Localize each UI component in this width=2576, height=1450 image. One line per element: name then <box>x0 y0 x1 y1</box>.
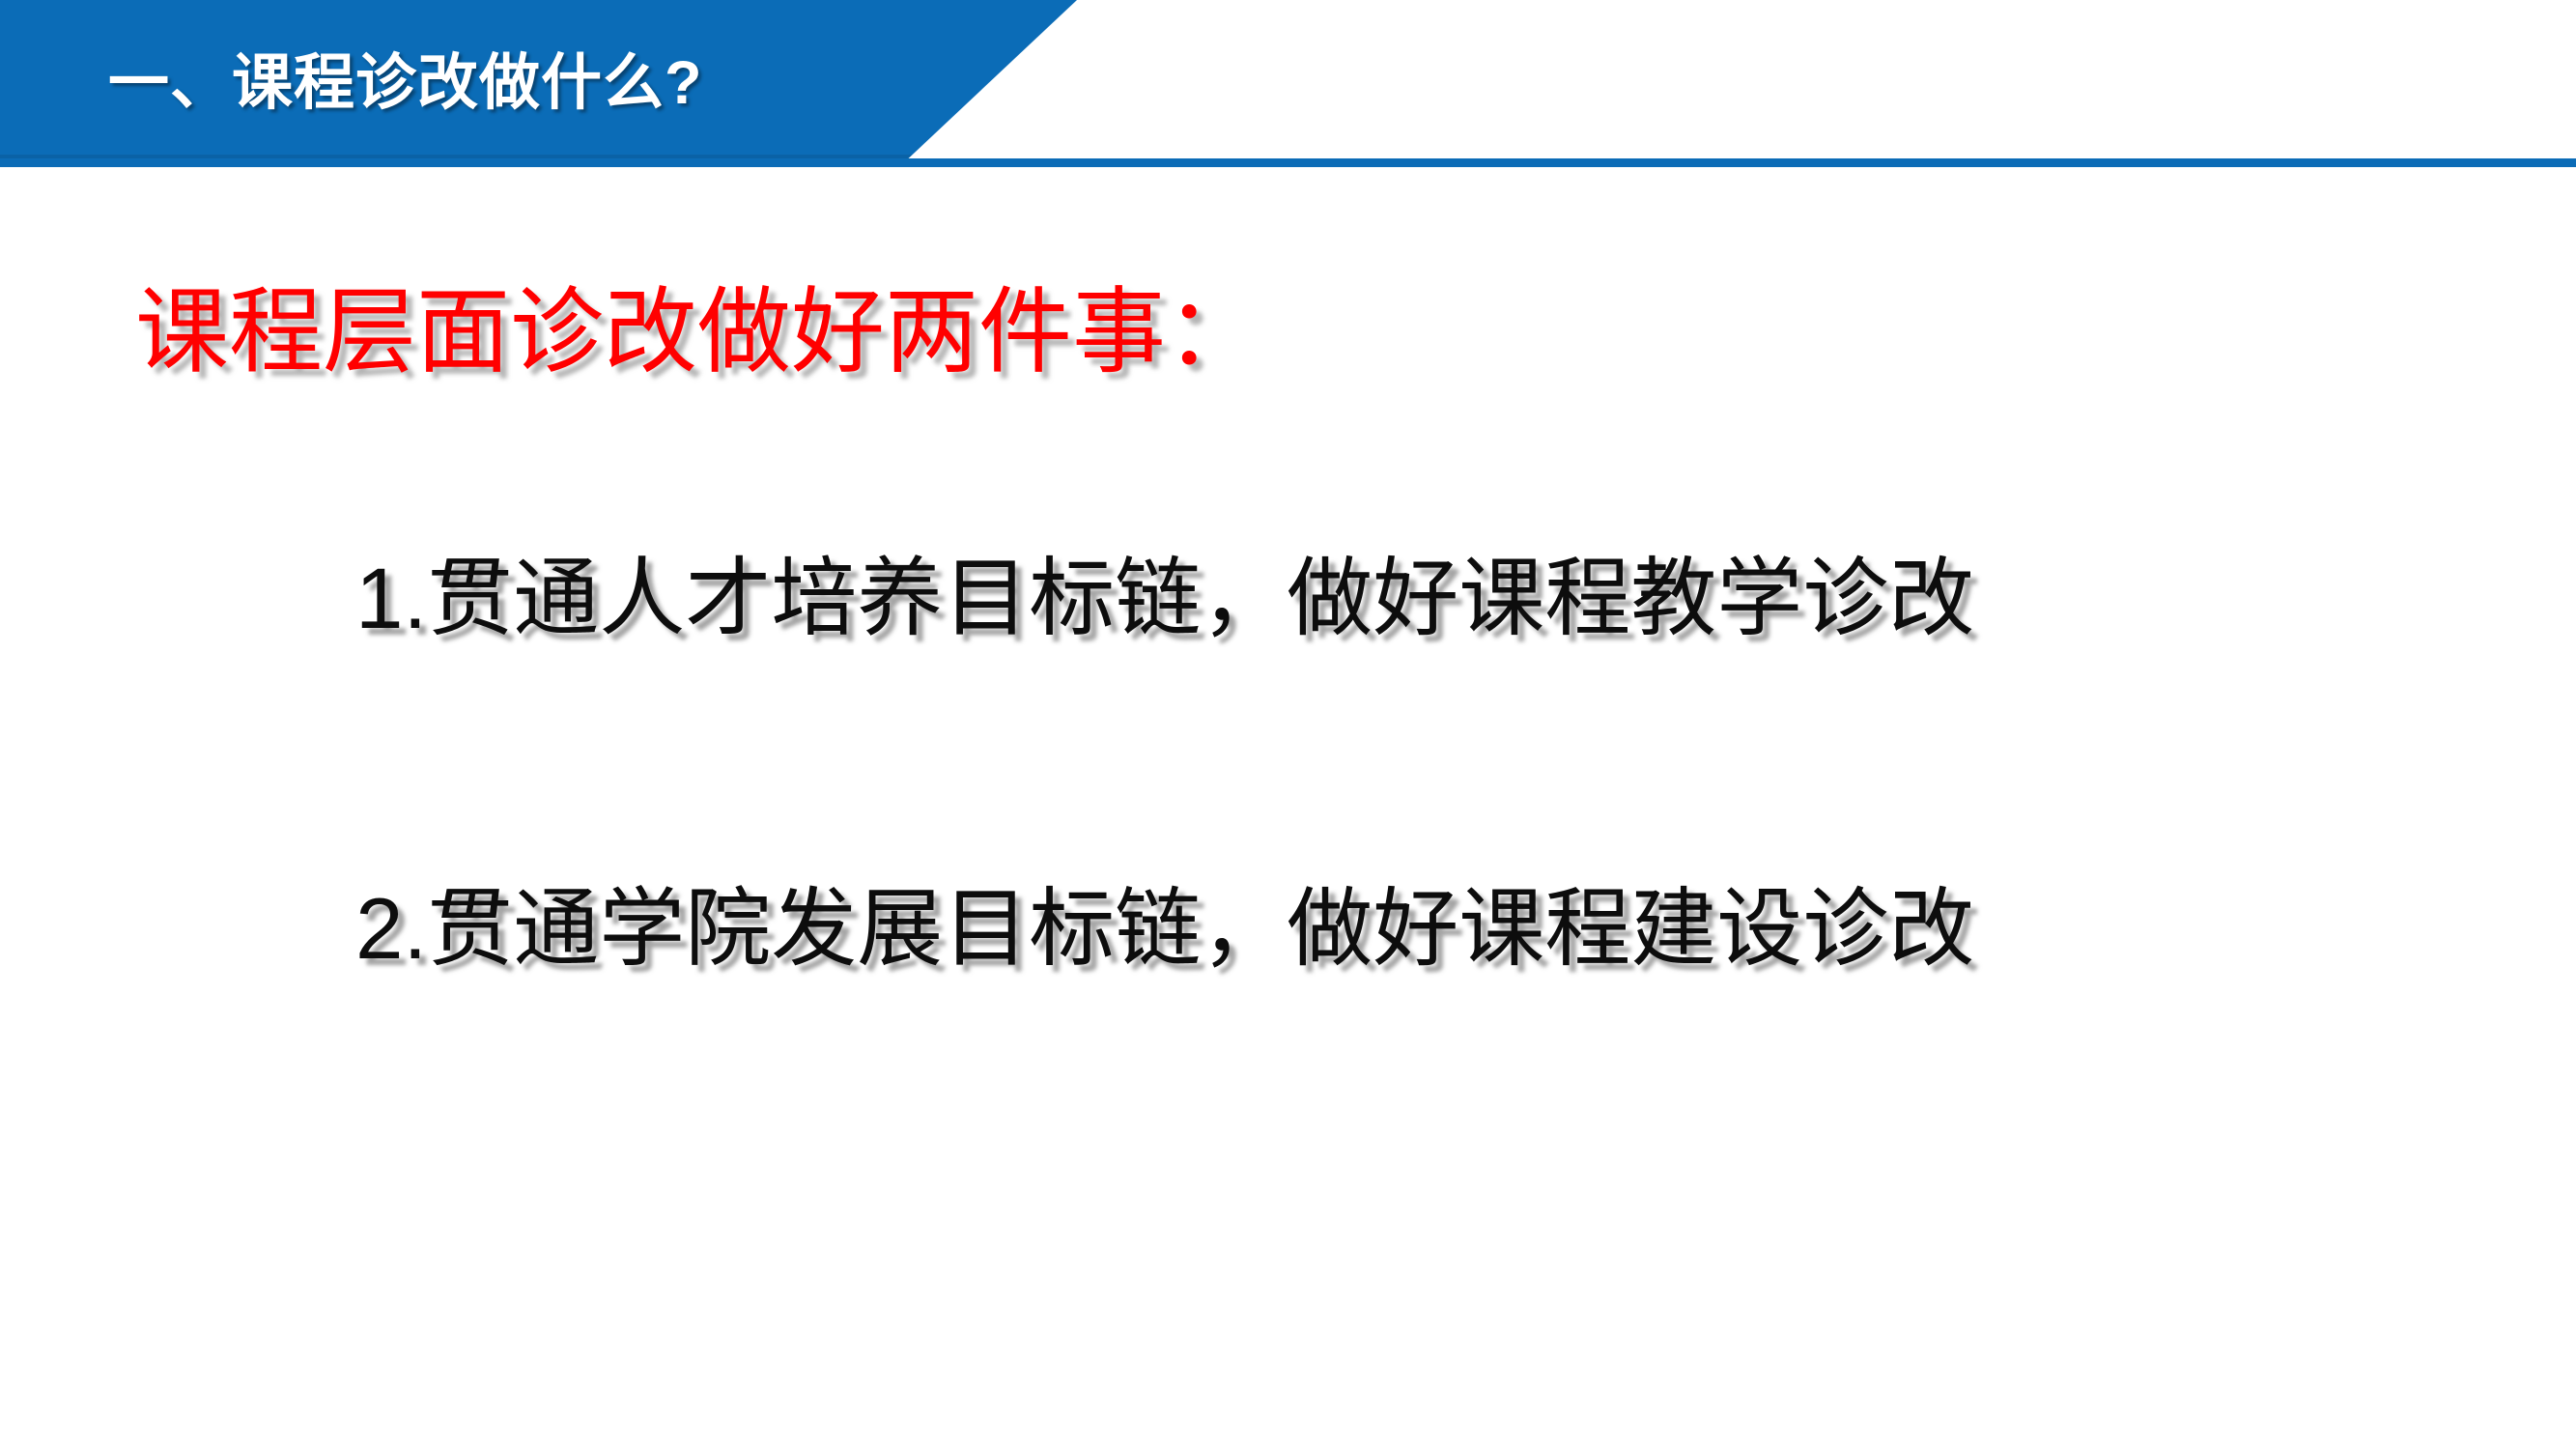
header-divider-rule <box>0 158 2576 167</box>
bullet-item-2: 2.贯通学院发展目标链，做好课程建设诊改 <box>355 877 1974 981</box>
body-heading: 课程层面诊改做好两件事： <box>135 276 1260 388</box>
presentation-slide: 一、课程诊改做什么? 课程层面诊改做好两件事： 1.贯通人才培养目标链，做好课程… <box>0 0 2576 1450</box>
bullet-item-1: 1.贯通人才培养目标链，做好课程教学诊改 <box>355 547 1974 650</box>
slide-section-title: 一、课程诊改做什么? <box>108 29 1016 137</box>
